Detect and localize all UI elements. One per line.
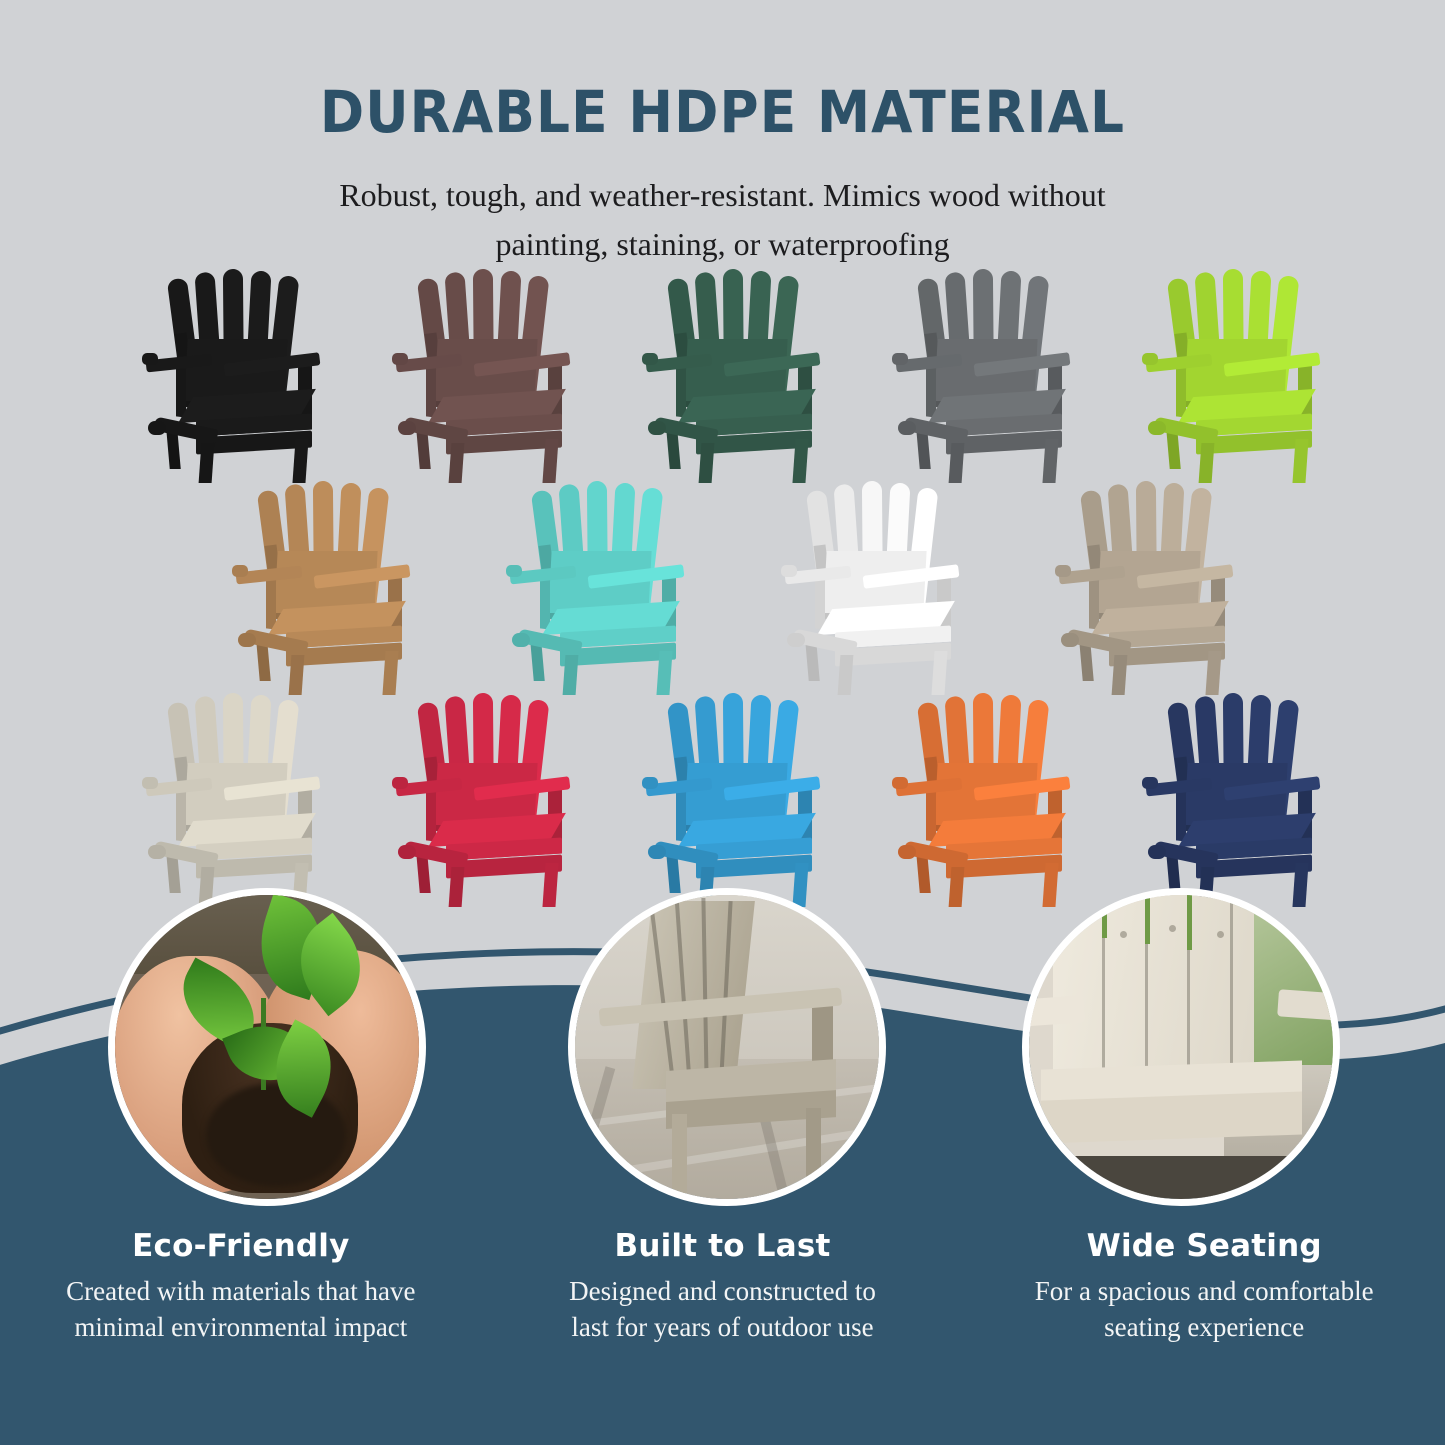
header: DURABLE HDPE MATERIAL Robust, tough, and… — [0, 0, 1445, 270]
hands-holding-seedling-photo — [108, 888, 426, 1206]
chair-part-leg-fl — [699, 443, 715, 483]
chair-part-arm-knob — [1055, 565, 1071, 577]
chair-part-leg-fr — [1292, 439, 1308, 483]
chair-part-runner-tip — [898, 421, 916, 435]
chair-swatch-navy-blue[interactable] — [1138, 692, 1320, 907]
chair-part-leg-fr — [792, 439, 808, 483]
chair-part-leg-fl — [199, 443, 215, 483]
feature-body-line1: For a spacious and comfortable — [1035, 1276, 1374, 1306]
chair-part-arm-knob — [392, 777, 408, 789]
chair-row-1 — [138, 268, 1320, 483]
chair-part-runner-tip — [648, 421, 666, 435]
chair-part-runner-tip — [398, 845, 416, 859]
chair-swatch-white[interactable] — [777, 480, 959, 695]
taupe-chair-on-patio-photo — [568, 888, 886, 1206]
chair-part-runner-tip — [648, 845, 666, 859]
feature-body-line1: Designed and constructed to — [569, 1276, 876, 1306]
chair-part-arm-knob — [892, 353, 908, 365]
chair-part-leg-fr — [657, 651, 673, 695]
chair-part-leg-fr — [292, 439, 308, 483]
chair-part-runner-tip — [1148, 845, 1166, 859]
chair-swatch-gray[interactable] — [888, 268, 1070, 483]
chair-part-leg-fr — [542, 439, 558, 483]
chair-part-arm-knob — [892, 777, 908, 789]
feature-built-to-last: Built to Last Designed and constructed t… — [482, 1228, 964, 1418]
page-title: DURABLE HDPE MATERIAL — [58, 0, 1387, 143]
chair-part-leg-fl — [837, 655, 853, 695]
feature-body-line1: Created with materials that have — [66, 1276, 415, 1306]
feature-eco-friendly: Eco-Friendly Created with materials that… — [0, 1228, 482, 1418]
chair-swatch-turquoise[interactable] — [502, 480, 684, 695]
chair-part-arm-knob — [142, 777, 158, 789]
chair-part-arm-knob — [781, 565, 797, 577]
chair-row-2 — [228, 480, 1233, 695]
chair-part-arm-knob — [1142, 353, 1158, 365]
chair-swatch-light-blue[interactable] — [638, 692, 820, 907]
chair-part-arm-knob — [1142, 777, 1158, 789]
chair-swatch-dark-green[interactable] — [638, 268, 820, 483]
feature-body-line2: last for years of outdoor use — [571, 1312, 873, 1342]
chair-part-leg-fl — [289, 655, 305, 695]
feature-wide-seating: Wide Seating For a spacious and comforta… — [963, 1228, 1445, 1418]
feature-photos — [0, 888, 1445, 1218]
chair-part-leg-fl — [563, 655, 579, 695]
chair-part-leg-fr — [382, 651, 398, 695]
chair-part-arm-knob — [232, 565, 248, 577]
chair-part-arm-knob — [392, 353, 408, 365]
chair-part-runner-tip — [398, 421, 416, 435]
chair-part-leg-fr — [1042, 439, 1058, 483]
page-subtitle-line2: painting, staining, or waterproofing — [223, 220, 1223, 270]
chair-part-arm-knob — [506, 565, 522, 577]
chair-swatch-teak-tan[interactable] — [228, 480, 410, 695]
feature-list: Eco-Friendly Created with materials that… — [0, 1228, 1445, 1418]
feature-title: Wide Seating — [977, 1228, 1431, 1264]
chair-part-leg-fl — [1199, 443, 1215, 483]
chair-part-leg-fr — [1205, 651, 1221, 695]
chair-part-runner-tip — [148, 421, 166, 435]
chair-part-leg-fl — [949, 443, 965, 483]
chair-part-arm-knob — [142, 353, 158, 365]
feature-title: Eco-Friendly — [14, 1228, 468, 1264]
chair-part-arm-knob — [642, 353, 658, 365]
chair-swatch-ivory[interactable] — [138, 692, 320, 907]
chair-part-arm-sup-l — [815, 576, 825, 629]
chair-part-leg-fr — [931, 651, 947, 695]
chair-swatch-black[interactable] — [138, 268, 320, 483]
chair-swatch-lime-green[interactable] — [1138, 268, 1320, 483]
feature-title: Built to Last — [496, 1228, 950, 1264]
chair-row-3 — [138, 692, 1320, 907]
chair-part-runner-tip — [238, 633, 256, 647]
feature-body: Created with materials that have minimal… — [14, 1274, 468, 1345]
feature-body: Designed and constructed to last for yea… — [496, 1274, 950, 1345]
chair-part-runner-tip — [898, 845, 916, 859]
cream-chair-seat-closeup-photo — [1022, 888, 1340, 1206]
feature-body-line2: minimal environmental impact — [74, 1312, 407, 1342]
chair-part-leg-fl — [449, 443, 465, 483]
chair-swatch-crimson-red[interactable] — [388, 692, 570, 907]
page-subtitle-line1: Robust, tough, and weather-resistant. Mi… — [223, 171, 1223, 221]
chair-part-runner-tip — [512, 633, 530, 647]
chair-swatch-mahogany-brown[interactable] — [388, 268, 570, 483]
chair-swatch-orange[interactable] — [888, 692, 1070, 907]
product-feature-poster: DURABLE HDPE MATERIAL Robust, tough, and… — [0, 0, 1445, 1445]
chair-part-runner-tip — [787, 633, 805, 647]
page-subtitle: Robust, tough, and weather-resistant. Mi… — [223, 171, 1223, 270]
feature-body-line2: seating experience — [1104, 1312, 1304, 1342]
chair-color-grid — [0, 268, 1445, 918]
chair-part-runner-tip — [1061, 633, 1079, 647]
chair-part-runner-tip — [148, 845, 166, 859]
feature-body: For a spacious and comfortable seating e… — [977, 1274, 1431, 1345]
chair-part-arm-knob — [642, 777, 658, 789]
chair-swatch-weathered-taupe[interactable] — [1051, 480, 1233, 695]
chair-part-leg-fl — [1112, 655, 1128, 695]
chair-part-runner-tip — [1148, 421, 1166, 435]
